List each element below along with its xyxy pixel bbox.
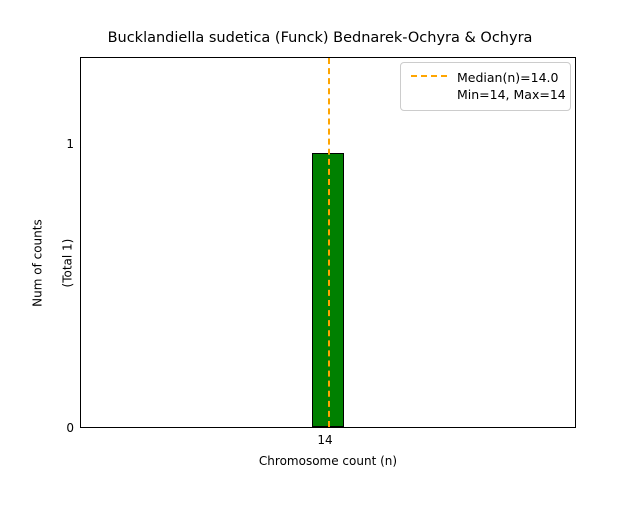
- plot-area: [80, 57, 576, 428]
- legend-label-median: Median(n)=14.0: [457, 70, 558, 85]
- ytick-label-1: 1: [62, 138, 74, 150]
- figure-canvas: Bucklandiella sudetica (Funck) Bednarek-…: [0, 0, 640, 480]
- legend-box: Median(n)=14.0 Min=14, Max=14: [400, 62, 571, 111]
- y-axis-label-line1: Num of counts: [31, 219, 45, 307]
- y-axis-label-line2: (Total 1): [61, 239, 75, 288]
- dashed-line-icon: [409, 69, 449, 83]
- legend-label-minmax: Min=14, Max=14: [457, 87, 566, 102]
- x-axis-label: Chromosome count (n): [80, 455, 576, 468]
- median-line: [328, 58, 330, 427]
- xtick-label-14: 14: [305, 434, 345, 446]
- chart-title: Bucklandiella sudetica (Funck) Bednarek-…: [0, 30, 640, 47]
- legend-entry-text: Median(n)=14.0 Min=14, Max=14: [457, 69, 566, 103]
- legend-entry-median: Median(n)=14.0 Min=14, Max=14: [409, 69, 562, 103]
- ytick-label-0: 0: [62, 422, 74, 434]
- plot-inner: [81, 58, 575, 427]
